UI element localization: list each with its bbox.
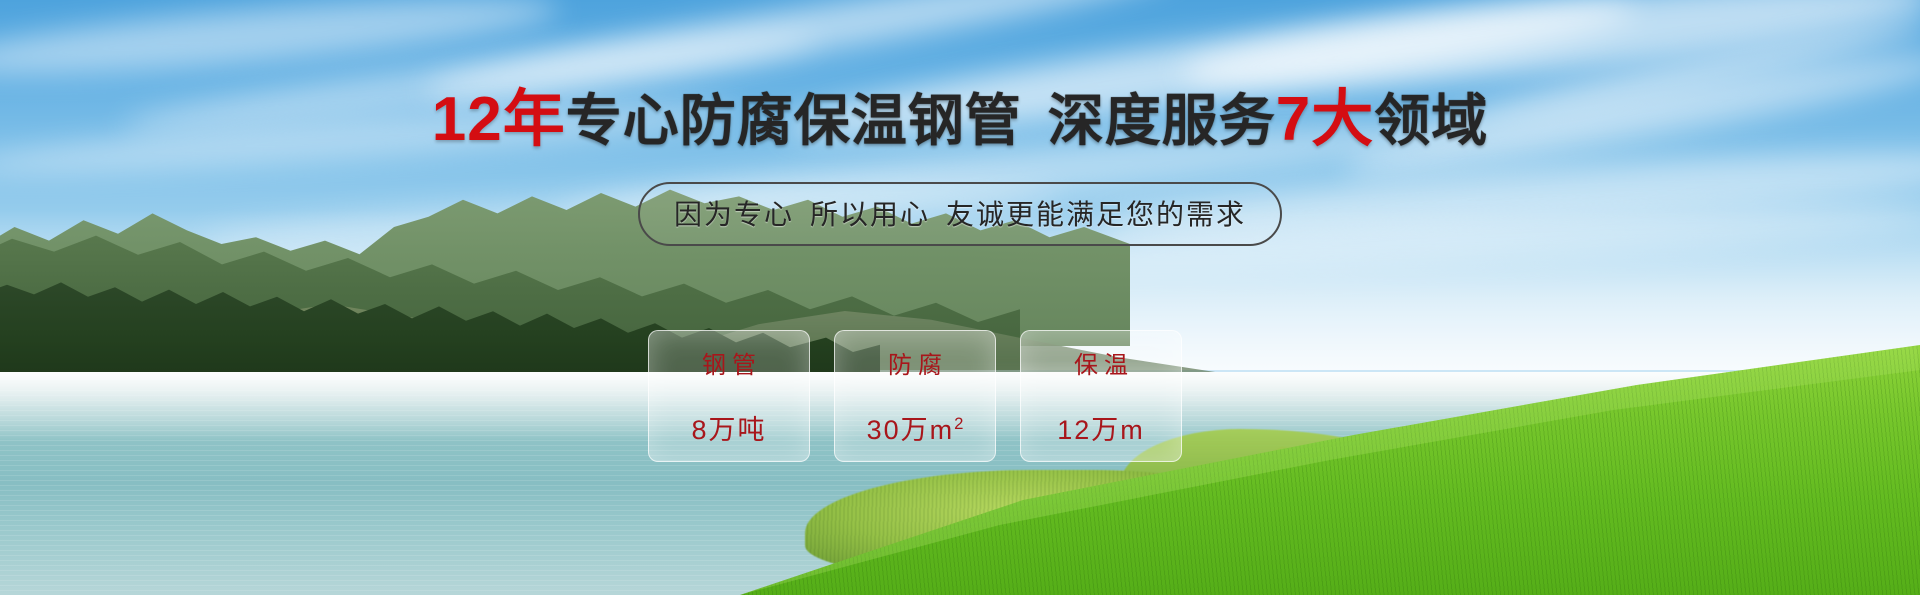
stat-card-value: 30万m2 (867, 408, 964, 447)
banner-content: 12年专心防腐保温钢管深度服务7大领域 因为专心所以用心友诚更能满足您的需求 (0, 0, 1920, 246)
stat-card-steel-pipe[interactable]: 钢管 8万吨 (648, 330, 810, 462)
hero-banner: 12年专心防腐保温钢管深度服务7大领域 因为专心所以用心友诚更能满足您的需求 钢… (0, 0, 1920, 595)
stat-card-label: 钢管 (696, 345, 762, 380)
stat-card-label: 保温 (1068, 345, 1134, 380)
stat-card-anticorrosion[interactable]: 防腐 30万m2 (834, 330, 996, 462)
banner-subtitle-pill: 因为专心所以用心友诚更能满足您的需求 (638, 182, 1282, 246)
stat-card-value-text: 12万m (1057, 415, 1145, 445)
stat-card-value-text: 8万吨 (691, 415, 766, 445)
stat-card-insulation[interactable]: 保温 12万m (1020, 330, 1182, 462)
stat-card-value: 8万吨 (691, 408, 766, 447)
subtitle-part-1: 因为专心 (674, 199, 794, 230)
stat-card-group: 钢管 8万吨 防腐 30万m2 保温 12万m (648, 330, 1182, 462)
banner-headline: 12年专心防腐保温钢管深度服务7大领域 (0, 0, 1920, 152)
stat-card-value-sup: 2 (954, 414, 963, 433)
headline-highlight-years: 12年 (432, 85, 566, 154)
headline-text-primary: 专心防腐保温钢管 (566, 89, 1022, 152)
headline-text-tertiary: 领域 (1374, 89, 1488, 152)
headline-text-secondary: 深度服务 (1048, 89, 1276, 152)
headline-highlight-fields: 7大 (1276, 85, 1374, 154)
subtitle-part-3: 友诚更能满足您的需求 (946, 199, 1246, 230)
stat-card-value: 12万m (1057, 408, 1145, 447)
stat-card-value-text: 30万m (867, 415, 955, 445)
banner-subtitle-wrap: 因为专心所以用心友诚更能满足您的需求 (638, 182, 1282, 246)
subtitle-part-2: 所以用心 (810, 199, 930, 230)
stat-card-label: 防腐 (882, 345, 948, 380)
